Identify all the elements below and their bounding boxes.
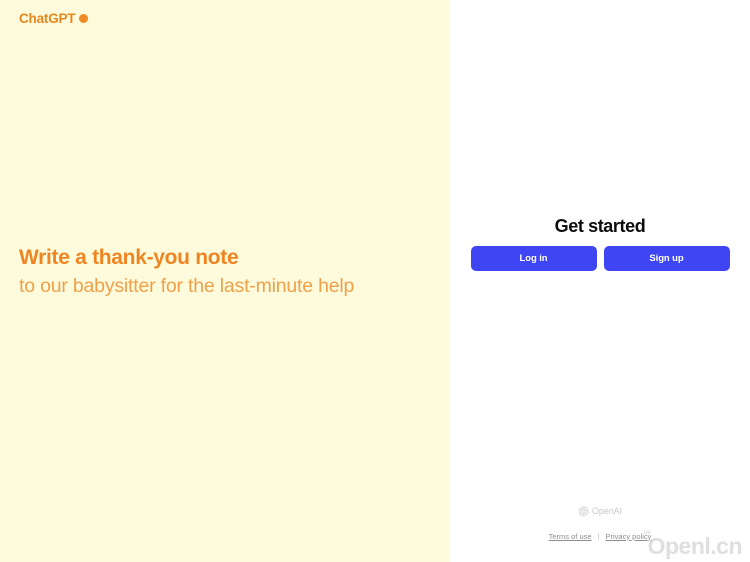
terms-of-use-link[interactable]: Terms of use <box>549 533 592 541</box>
signup-button[interactable]: Sign up <box>604 246 730 271</box>
signup-landing-page: ChatGPT Write a thank-you note to our ba… <box>0 0 750 562</box>
login-button[interactable]: Log in <box>471 246 597 271</box>
page-title: Get started <box>555 215 646 237</box>
privacy-policy-link[interactable]: Privacy policy <box>606 533 652 541</box>
auth-panel: Get started Log in Sign up OpenAI Terms … <box>450 0 750 562</box>
promo-panel: ChatGPT Write a thank-you note to our ba… <box>0 0 450 562</box>
footer-separator: | <box>598 533 600 541</box>
promo-subline: to our babysitter for the last-minute he… <box>19 272 419 300</box>
filled-circle-icon <box>79 14 88 23</box>
openai-brand: OpenAI <box>578 506 622 517</box>
chatgpt-brand-logo: ChatGPT <box>19 12 88 26</box>
promo-headline: Write a thank-you note <box>19 244 419 272</box>
openai-logo-label: OpenAI <box>592 507 622 516</box>
promo-text-block: Write a thank-you note to our babysitter… <box>19 244 419 300</box>
get-started-block: Get started Log in Sign up <box>450 215 750 271</box>
brand-name-label: ChatGPT <box>19 12 75 26</box>
auth-button-group: Log in Sign up <box>471 246 730 271</box>
openai-logo-icon <box>578 506 589 517</box>
footer-links: Terms of use | Privacy policy <box>549 533 652 541</box>
footer: OpenAI Terms of use | Privacy policy <box>450 506 750 541</box>
